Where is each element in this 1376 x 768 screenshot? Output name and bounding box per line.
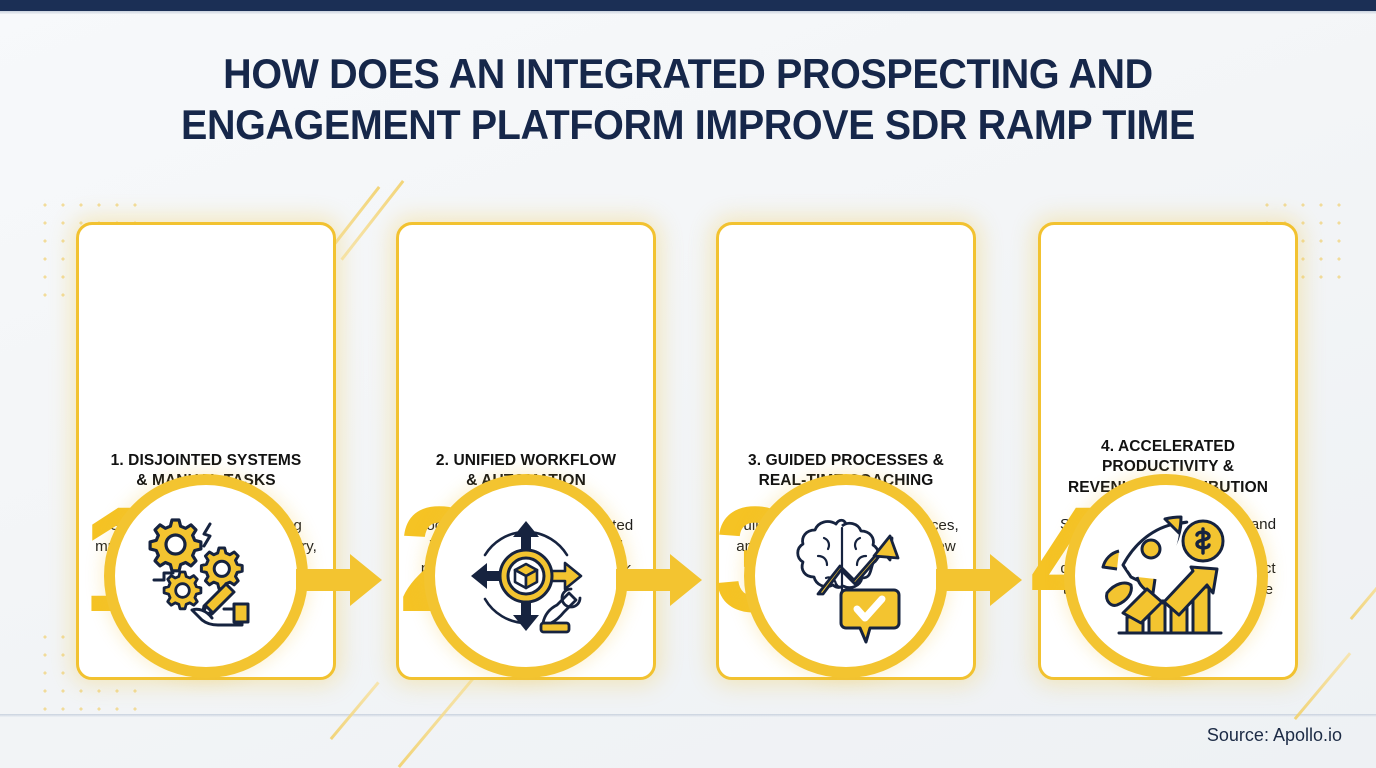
arrow-step-3-to-4: [936, 552, 1022, 608]
right-arrow-icon: [296, 552, 382, 608]
rocket-dollar-bar-chart-icon: [1093, 503, 1239, 649]
cube-arrows-robot-arm-icon: [455, 505, 597, 647]
steps-row: 1. DISJOINTED SYSTEMS & MANUAL TASKS SDR…: [0, 222, 1376, 684]
arrow-step-1-to-2: [296, 552, 382, 608]
step-icon-circle-2: [424, 474, 628, 678]
brain-growth-arrow-check-bubble-icon: [774, 504, 918, 648]
top-accent-bar: [0, 0, 1376, 11]
diagonal-line-decoration: [330, 682, 379, 740]
step-icon-circle-1: [104, 474, 308, 678]
page-title: HOW DOES AN INTEGRATED PROSPECTING AND E…: [41, 48, 1334, 150]
page-title-line-1: HOW DOES AN INTEGRATED PROSPECTING AND: [41, 48, 1334, 99]
step-card-1-heading-line-1: 1. DISJOINTED SYSTEMS: [111, 452, 302, 469]
page-title-line-2: ENGAGEMENT PLATFORM IMPROVE SDR RAMP TIM…: [41, 99, 1334, 150]
step-card-2-heading-line-1: 2. UNIFIED WORKFLOW: [436, 452, 616, 469]
source-label: Source: Apollo.io: [1207, 725, 1342, 746]
step-card-4-heading-line-2: PRODUCTIVITY &: [1102, 458, 1234, 475]
step-card-3-heading-line-1: 3. GUIDED PROCESSES &: [748, 452, 944, 469]
top-divider-line: [0, 11, 1376, 14]
step-icon-circle-3: [744, 474, 948, 678]
right-arrow-icon: [936, 552, 1022, 608]
right-arrow-icon: [616, 552, 702, 608]
arrow-step-2-to-3: [616, 552, 702, 608]
gears-hand-writing-icon: [136, 506, 276, 646]
bottom-divider-line: [0, 714, 1376, 717]
step-icon-circle-4: [1064, 474, 1268, 678]
step-card-4-heading-line-1: 4. ACCELERATED: [1101, 438, 1235, 455]
infographic-canvas: HOW DOES AN INTEGRATED PROSPECTING AND E…: [0, 0, 1376, 768]
diagonal-line-decoration: [398, 678, 474, 768]
